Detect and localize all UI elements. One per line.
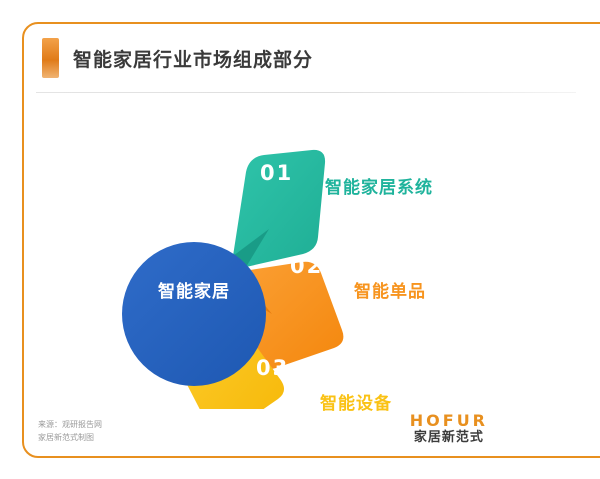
- infographic-card: 智能家居行业市场组成部分: [22, 22, 600, 458]
- page-title: 智能家居行业市场组成部分: [73, 45, 313, 72]
- source-note: 来源：观研报告网 家居新范式制图: [38, 419, 102, 444]
- brand-logo: HOFUR 家居新范式: [410, 412, 488, 446]
- segment-caption-02: 智能单品: [354, 277, 426, 302]
- hub-circle[interactable]: [122, 242, 266, 386]
- segment-caption-01: 智能家居系统: [325, 173, 433, 198]
- segment-caption-03: 智能设备: [320, 389, 392, 414]
- title-row: 智能家居行业市场组成部分: [42, 38, 313, 78]
- brand-mark: HOFUR: [410, 412, 488, 430]
- title-accent-bar: [42, 38, 59, 78]
- title-divider: [36, 92, 576, 93]
- segment-petal-01[interactable]: [233, 150, 325, 268]
- petal-hub-diagram: [94, 109, 474, 409]
- diagram-stage: 01 02 03 智能家居 智能家居系统 智能单品 智能设备: [24, 99, 600, 419]
- brand-name: 家居新范式: [410, 431, 488, 446]
- card-inner: 智能家居行业市场组成部分: [24, 24, 600, 456]
